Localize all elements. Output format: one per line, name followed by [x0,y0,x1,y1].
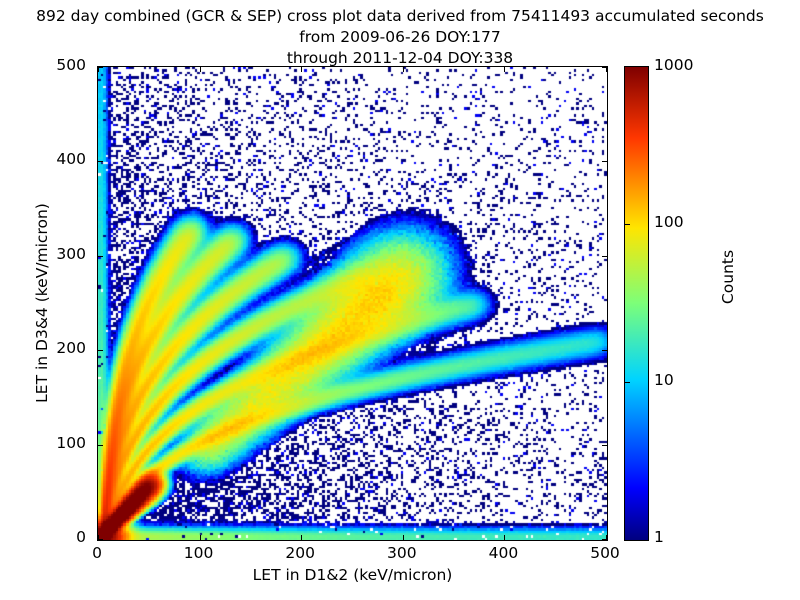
x-tick-300 [403,535,404,540]
x-tick-label-200: 200 [260,544,340,562]
x-tick-label-300: 300 [362,544,442,562]
y-tick-label-500: 500 [0,56,86,74]
density-heatmap [98,67,607,540]
y-tick-0 [98,539,103,540]
figure-canvas: 892 day combined (GCR & SEP) cross plot … [0,0,800,600]
title-line-2: from 2009-06-26 DOY:177 [0,27,800,48]
y-tick-400 [98,161,103,162]
colorbar-tick-100 [625,224,630,225]
y-tick-300 [98,256,103,257]
colorbar-tick-label-1000: 1000 [654,56,693,74]
x-tick-label-0: 0 [57,544,137,562]
y-tick-200 [602,350,607,351]
y-tick-400 [602,161,607,162]
y-tick-100 [98,445,103,446]
y-tick-500 [98,67,103,68]
x-tick-400 [504,535,505,540]
x-tick-label-100: 100 [159,544,239,562]
y-tick-label-0: 0 [0,528,86,546]
x-tick-200 [301,535,302,540]
x-axis-label: LET in D1&2 (keV/micron) [97,566,608,584]
colorbar-tick-label-1: 1 [654,528,664,546]
colorbar-tick-label-10: 10 [654,371,674,389]
y-tick-200 [98,350,103,351]
y-tick-0 [602,539,607,540]
colorbar-gradient [625,67,648,540]
x-tick-100 [200,67,201,72]
title-line-1: 892 day combined (GCR & SEP) cross plot … [0,6,800,27]
x-tick-300 [403,67,404,72]
colorbar [624,66,649,541]
y-tick-100 [602,445,607,446]
colorbar-label: Counts [719,197,737,357]
x-tick-label-400: 400 [463,544,543,562]
colorbar-tick-label-100: 100 [654,213,684,231]
x-tick-400 [504,67,505,72]
colorbar-tick-10 [625,382,630,383]
x-tick-200 [301,67,302,72]
y-tick-500 [602,67,607,68]
y-tick-300 [602,256,607,257]
scatter-density-plot [97,66,608,541]
x-tick-100 [200,535,201,540]
y-axis-label: LET in D3&4 (keV/micron) [33,143,51,463]
x-tick-label-500: 500 [565,544,645,562]
